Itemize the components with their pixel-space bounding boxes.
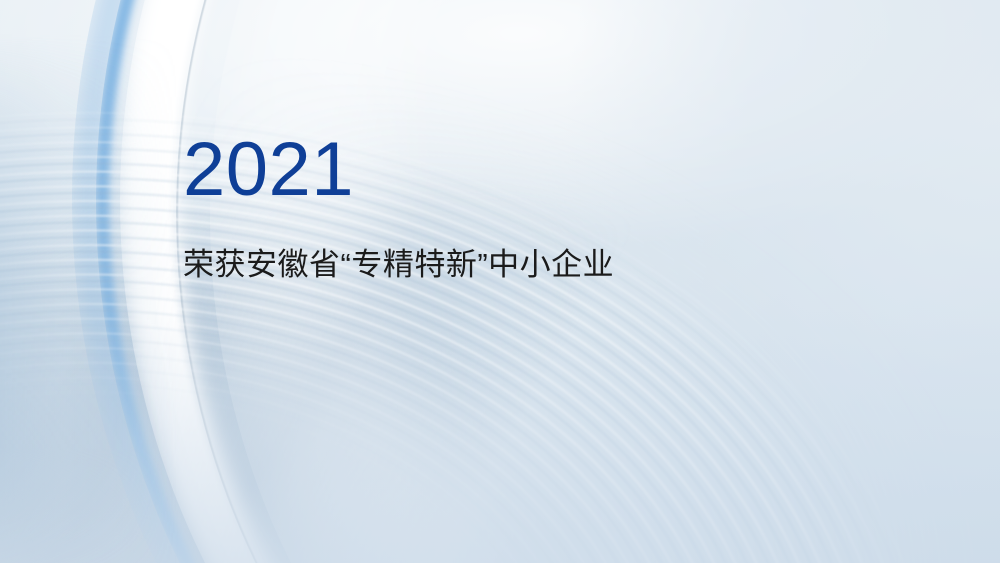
award-subtitle: 荣获安徽省“专精特新”中小企业 xyxy=(183,208,823,285)
slide-canvas: 2021 荣获安徽省“专精特新”中小企业 xyxy=(0,0,1000,563)
year-heading: 2021 xyxy=(183,132,823,208)
text-block: 2021 荣获安徽省“专精特新”中小企业 xyxy=(183,132,823,285)
